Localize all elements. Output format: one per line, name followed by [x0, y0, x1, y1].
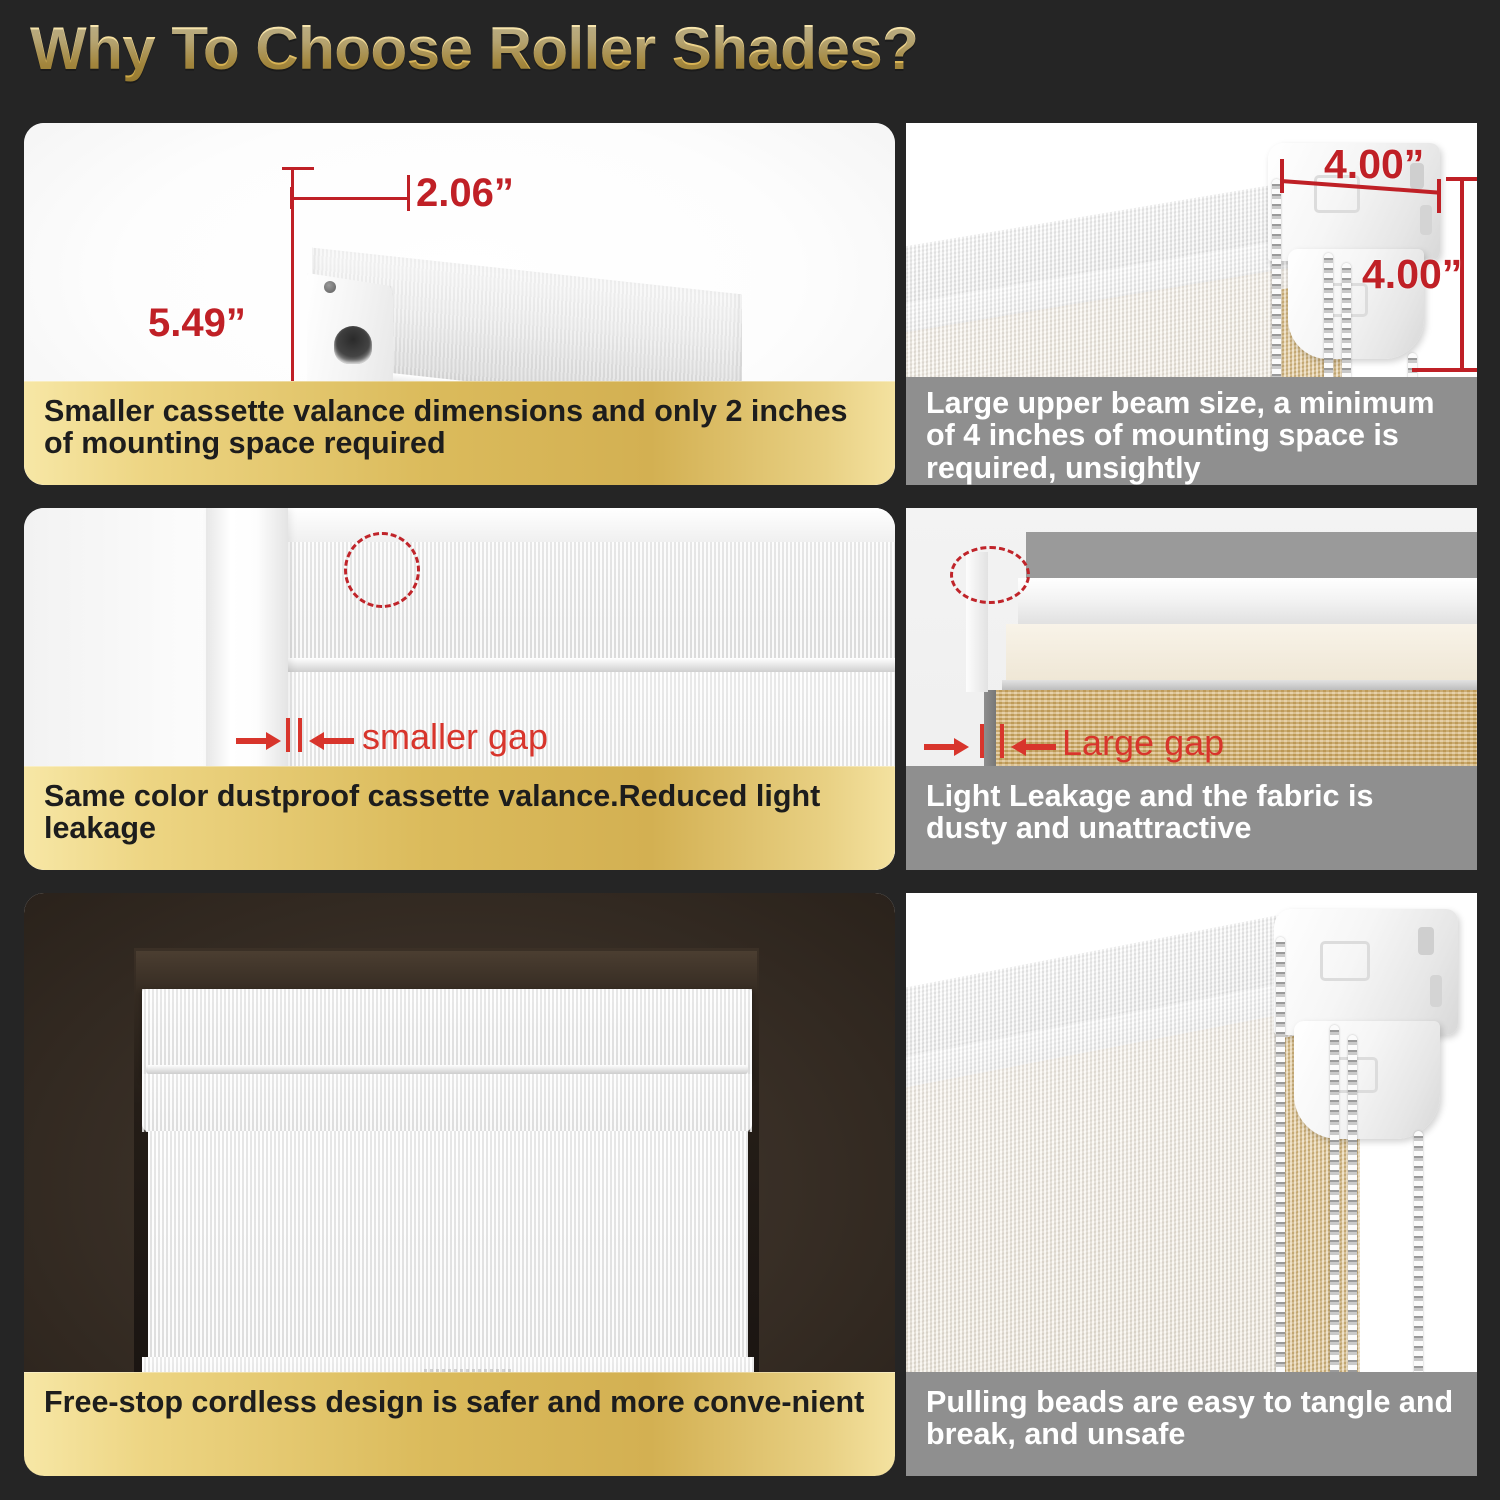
end-cap-slot-icon	[334, 326, 372, 364]
panel-4-caption-text: Light Leakage and the fabric is dusty an…	[926, 780, 1459, 845]
fabric-edge	[1002, 680, 1477, 690]
gap-arrow-left-icon	[924, 736, 970, 758]
page-title: Why To Choose Roller Shades?	[30, 14, 1130, 83]
panel-2-caption-text: Large upper beam size, a minimum of 4 in…	[926, 387, 1459, 484]
bracket-emboss-icon	[1320, 941, 1370, 981]
panel-4-caption: Light Leakage and the fabric is dusty an…	[906, 766, 1477, 870]
dim-height-tick-bottom	[1412, 368, 1477, 372]
panel-2-caption: Large upper beam size, a minimum of 4 in…	[906, 377, 1477, 485]
gap-arrow-left-icon	[236, 730, 282, 752]
valance-lower-shell	[142, 1074, 752, 1132]
panel-cordless-design: Free-stop cordless design is safer and m…	[24, 893, 895, 1476]
dim-height-label: 4.00”	[1362, 251, 1462, 298]
shade-fabric	[148, 1131, 748, 1363]
panel-large-upper-beam: 4.00” 4.00” Large upper beam size, a min…	[906, 123, 1477, 485]
gap-label: Large gap	[1062, 722, 1224, 764]
bracket-slot-icon	[1420, 205, 1432, 235]
dim-height-tick-top	[1446, 177, 1477, 181]
upper-shadow-band	[1026, 532, 1477, 584]
bracket-slot-icon	[1430, 975, 1442, 1007]
gap-tick-left	[286, 718, 290, 752]
dim-width-tick-left	[1280, 159, 1284, 193]
gap-tick-left	[980, 724, 984, 758]
panel-1-caption-text: Smaller cassette valance dimensions and …	[44, 395, 877, 460]
page-header: Why To Choose Roller Shades?	[30, 14, 1130, 106]
gap-tick-right	[298, 718, 302, 752]
dim-height-label: 5.49”	[148, 301, 246, 346]
bracket-slot-icon	[1418, 927, 1434, 955]
panel-1-caption: Smaller cassette valance dimensions and …	[24, 381, 895, 485]
gap-arrow-right-icon	[308, 730, 354, 752]
gap-arrow-right-icon	[1010, 736, 1056, 758]
dim-width-tick-right	[407, 175, 410, 211]
dim-height-tick-top	[282, 167, 314, 170]
panel-5-caption-text: Free-stop cordless design is safer and m…	[44, 1386, 877, 1418]
recess-header	[136, 951, 757, 993]
panel-large-gap: Large gap Light Leakage and the fabric i…	[906, 508, 1477, 870]
valance-slot	[146, 1065, 748, 1074]
highlight-circle-icon	[344, 532, 420, 608]
panel-cassette-dimensions: 2.06” 5.49” Smaller cassette valance dim…	[24, 123, 895, 485]
dim-width-label: 2.06”	[416, 171, 514, 216]
panel-3-caption-text: Same color dustproof cassette valance.Re…	[44, 780, 877, 845]
panel-pulling-beads: Pulling beads are easy to tangle and bre…	[906, 893, 1477, 1476]
panel-6-caption-text: Pulling beads are easy to tangle and bre…	[926, 1386, 1459, 1451]
panel-smaller-gap: smaller gap Same color dustproof cassett…	[24, 508, 895, 870]
valance-rail	[256, 658, 895, 672]
dim-width-label: 4.00”	[1324, 141, 1424, 188]
panel-3-caption: Same color dustproof cassette valance.Re…	[24, 766, 895, 870]
screw-icon	[324, 281, 336, 293]
cream-fabric-roll	[1006, 624, 1477, 680]
window-top-molding	[206, 508, 895, 542]
gap-label: smaller gap	[362, 716, 548, 758]
highlight-circle-icon	[950, 546, 1030, 604]
panel-5-caption: Free-stop cordless design is safer and m…	[24, 1372, 895, 1476]
dim-width-line	[290, 197, 410, 200]
gap-tick-right	[1000, 724, 1004, 758]
roller-tube	[1018, 578, 1477, 630]
dim-width-tick-right	[1437, 179, 1441, 213]
panel-6-caption: Pulling beads are easy to tangle and bre…	[906, 1372, 1477, 1476]
